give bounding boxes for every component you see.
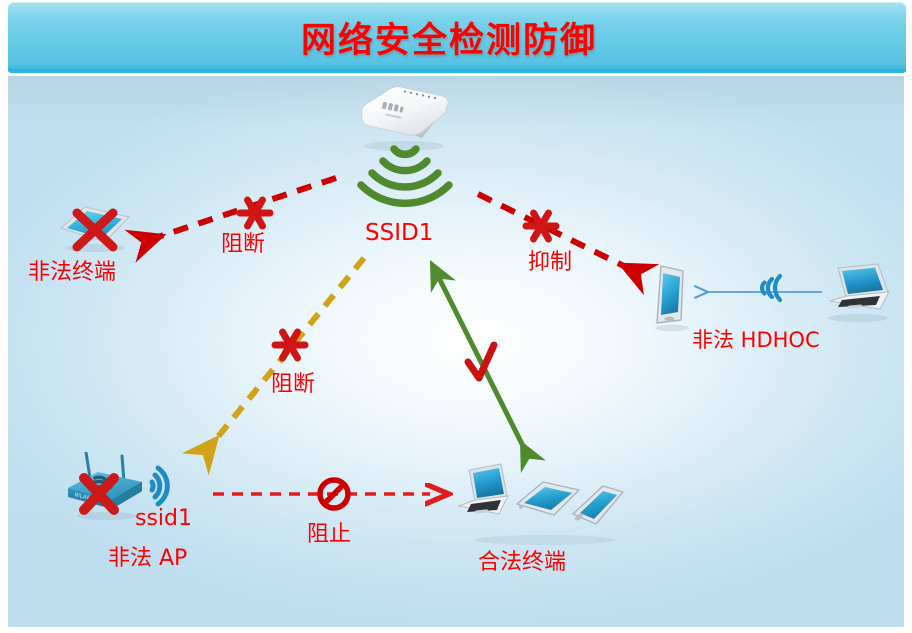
laptop-icon bbox=[459, 464, 508, 514]
laptop-icon[interactable] bbox=[818, 262, 896, 324]
tablet-icon[interactable] bbox=[55, 200, 135, 258]
wifi-waves-icon bbox=[752, 268, 792, 308]
prevent-rogue-ap-link[interactable] bbox=[213, 480, 430, 508]
rogue-ap-label: 非法 AP bbox=[108, 548, 187, 570]
rogue-ap-ssid-label: ssid1 bbox=[135, 508, 192, 530]
smartphone-icon[interactable] bbox=[648, 262, 696, 334]
tablet-icon bbox=[517, 482, 579, 515]
block-link-label: 阻断 bbox=[221, 234, 265, 256]
illegal-adhoc-label: 非法 HDHOC bbox=[692, 330, 820, 351]
slide-root: 网络安全检测防御 bbox=[0, 0, 912, 633]
rogue-terminal-label: 非法终端 bbox=[28, 262, 116, 284]
wifi-waves-icon bbox=[350, 140, 460, 210]
suppress-link-label: 抑制 bbox=[528, 252, 572, 274]
legitimate-terminals-label: 合法终端 bbox=[478, 552, 566, 574]
legitimate-terminals-group[interactable] bbox=[455, 462, 635, 548]
prevent-link-label: 阻止 bbox=[307, 524, 351, 546]
no-entry-icon bbox=[320, 480, 348, 508]
smartphone-icon bbox=[573, 486, 623, 524]
block-rogue-ap-link[interactable] bbox=[212, 258, 364, 444]
wifi-waves-icon bbox=[148, 462, 190, 510]
allow-legitimate-link[interactable] bbox=[434, 268, 524, 448]
block-rogue-terminal-link[interactable] bbox=[155, 178, 336, 238]
ap-ssid-label: SSID1 bbox=[365, 222, 433, 245]
block-rogue-ap-label: 阻断 bbox=[271, 374, 315, 396]
